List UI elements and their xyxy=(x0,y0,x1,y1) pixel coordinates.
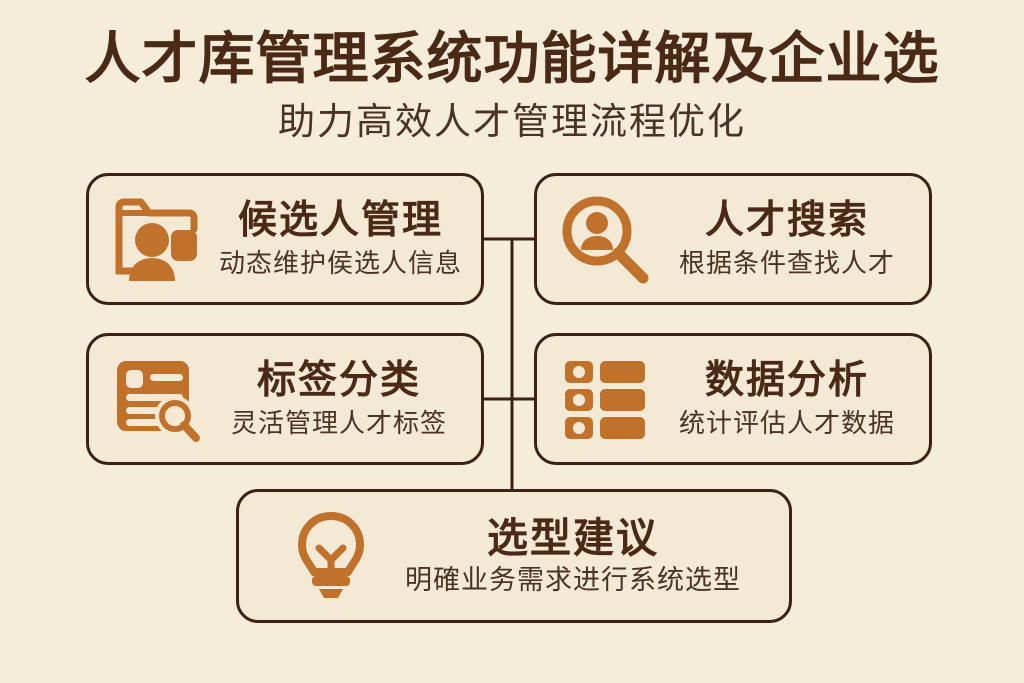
card-description: 统计评估人才数据 xyxy=(679,406,895,440)
folder-person-icon xyxy=(111,193,203,285)
card-talent-search[interactable]: 人才搜索 根据条件查找人才 xyxy=(534,173,932,305)
card-description: 明確业务需求进行系统选型 xyxy=(405,563,741,597)
card-title: 人才搜索 xyxy=(705,198,869,244)
infographic-canvas: 人才库管理系统功能详解及企业选 助力高效人才管理流程优化 xyxy=(0,0,1024,683)
card-title: 选型建议 xyxy=(487,515,659,561)
card-text-block: 选型建议 明確业务需求进行系统选型 xyxy=(403,515,743,597)
lightbulb-icon xyxy=(285,510,377,602)
card-data-analytics[interactable]: 数据分析 统计评估人才数据 xyxy=(534,333,932,465)
card-tag-classification[interactable]: 标签分类 灵活管理人才标签 xyxy=(86,333,484,465)
card-description: 动态维护侯选人信息 xyxy=(219,246,462,280)
page-title: 人才库管理系统功能详解及企业选 xyxy=(0,0,1024,92)
card-title: 候选人管理 xyxy=(238,198,443,244)
database-rows-icon xyxy=(559,353,651,445)
card-candidate-management[interactable]: 候选人管理 动态维护侯选人信息 xyxy=(86,173,484,305)
magnifier-person-icon xyxy=(559,193,651,285)
card-description: 灵活管理人才标签 xyxy=(231,406,447,440)
card-text-block: 标签分类 灵活管理人才标签 xyxy=(219,358,459,440)
card-title: 标签分类 xyxy=(257,358,421,404)
card-text-block: 候选人管理 动态维护侯选人信息 xyxy=(219,198,462,280)
card-description: 根据条件查找人才 xyxy=(679,246,895,280)
document-magnifier-icon xyxy=(111,353,203,445)
header: 人才库管理系统功能详解及企业选 助力高效人才管理流程优化 xyxy=(0,0,1024,144)
card-title: 数据分析 xyxy=(705,358,869,404)
page-subtitle: 助力高效人才管理流程优化 xyxy=(0,92,1024,144)
card-text-block: 数据分析 统计评估人才数据 xyxy=(667,358,907,440)
card-selection-advice[interactable]: 选型建议 明確业务需求进行系统选型 xyxy=(236,489,792,623)
card-text-block: 人才搜索 根据条件查找人才 xyxy=(667,198,907,280)
